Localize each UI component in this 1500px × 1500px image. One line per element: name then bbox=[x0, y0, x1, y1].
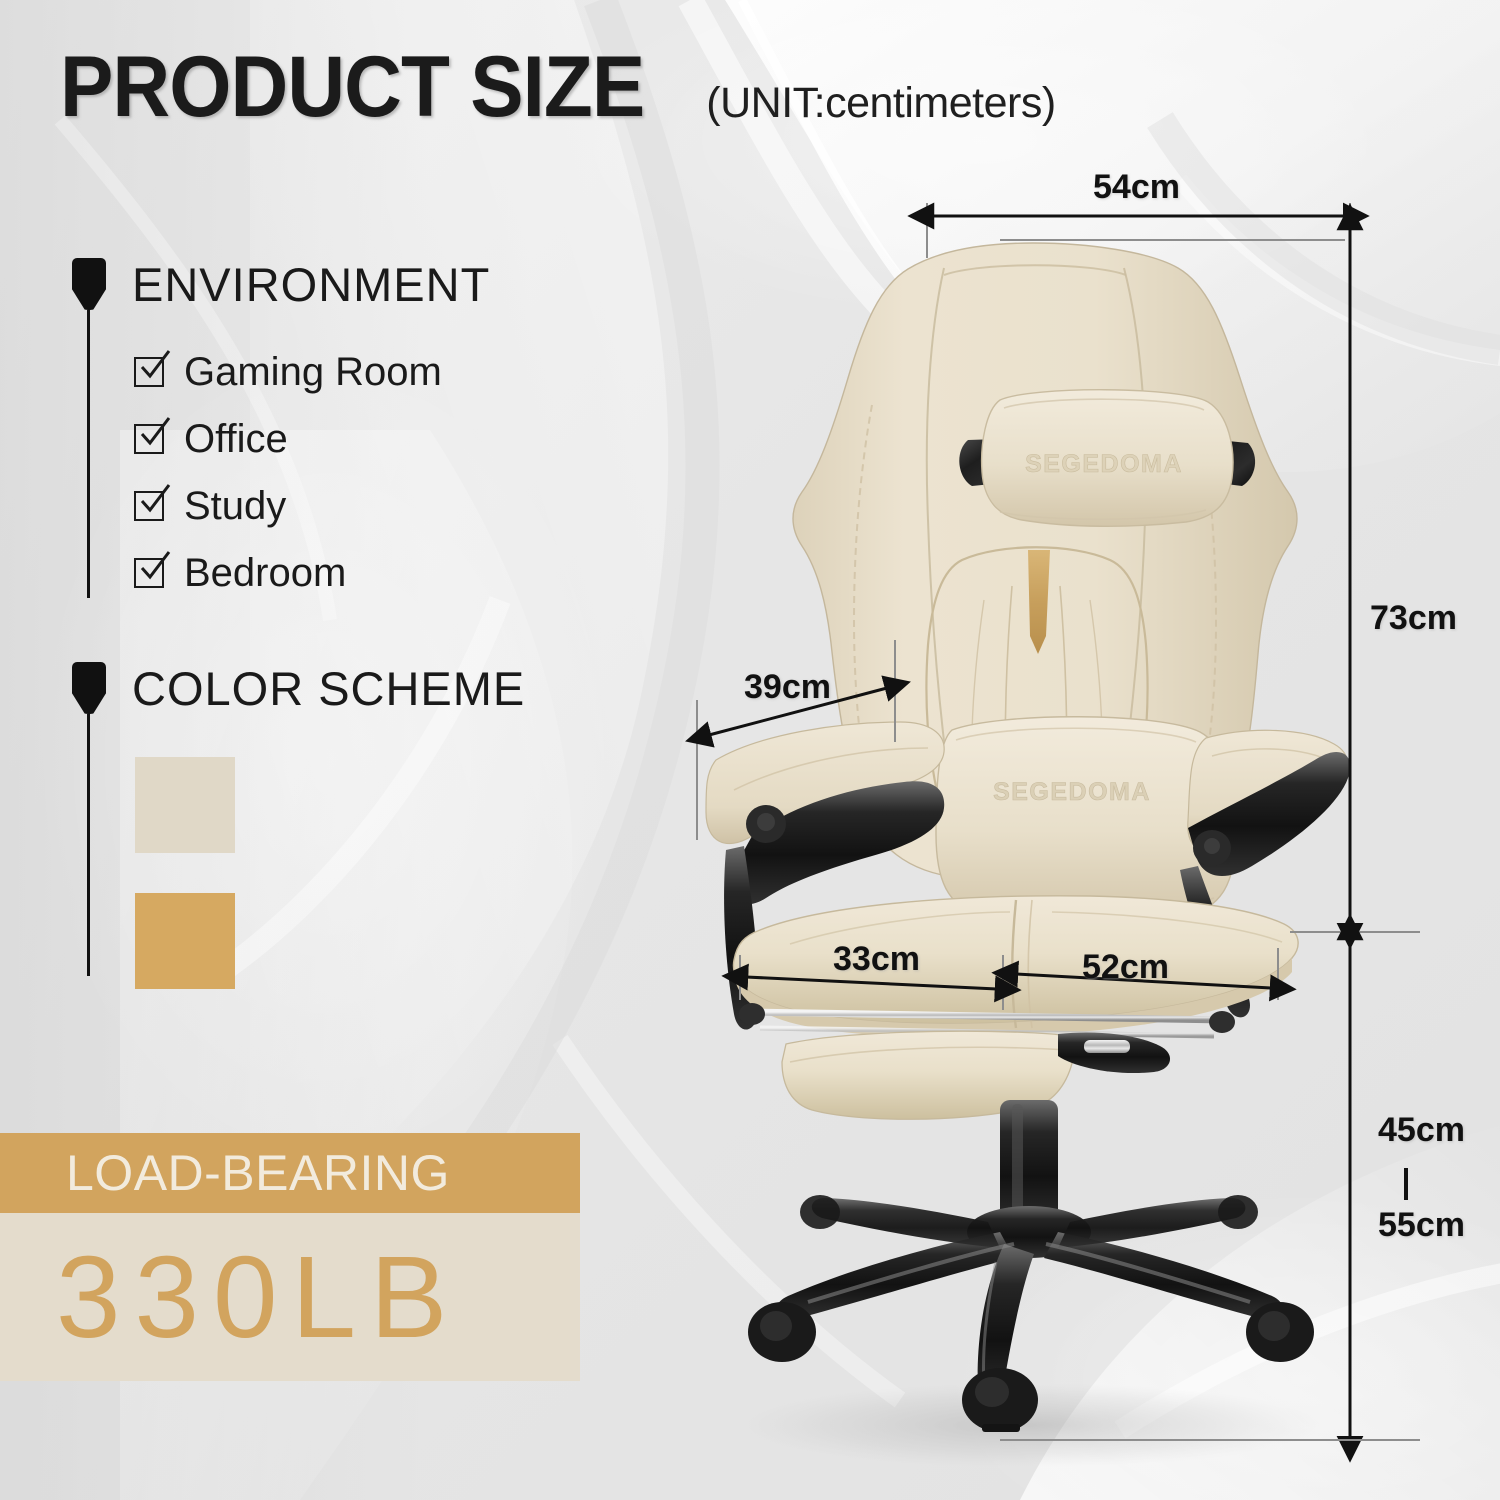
dimension-annotations bbox=[0, 0, 1500, 1500]
dimension-label-39cm: 39cm bbox=[744, 670, 831, 704]
dimension-label-45cm: 45cm bbox=[1378, 1113, 1465, 1147]
dimension-label-55cm: 55cm bbox=[1378, 1208, 1465, 1242]
dimension-backrest-height bbox=[1290, 228, 1420, 932]
dimension-label-52cm: 52cm bbox=[1082, 950, 1169, 984]
dimension-overall-width bbox=[927, 203, 1350, 262]
dimension-seat-height bbox=[1000, 938, 1420, 1440]
dimension-label-54cm: 54cm bbox=[1093, 170, 1180, 204]
dimension-label-73cm: 73cm bbox=[1370, 601, 1457, 635]
dimension-label-33cm: 33cm bbox=[833, 942, 920, 976]
